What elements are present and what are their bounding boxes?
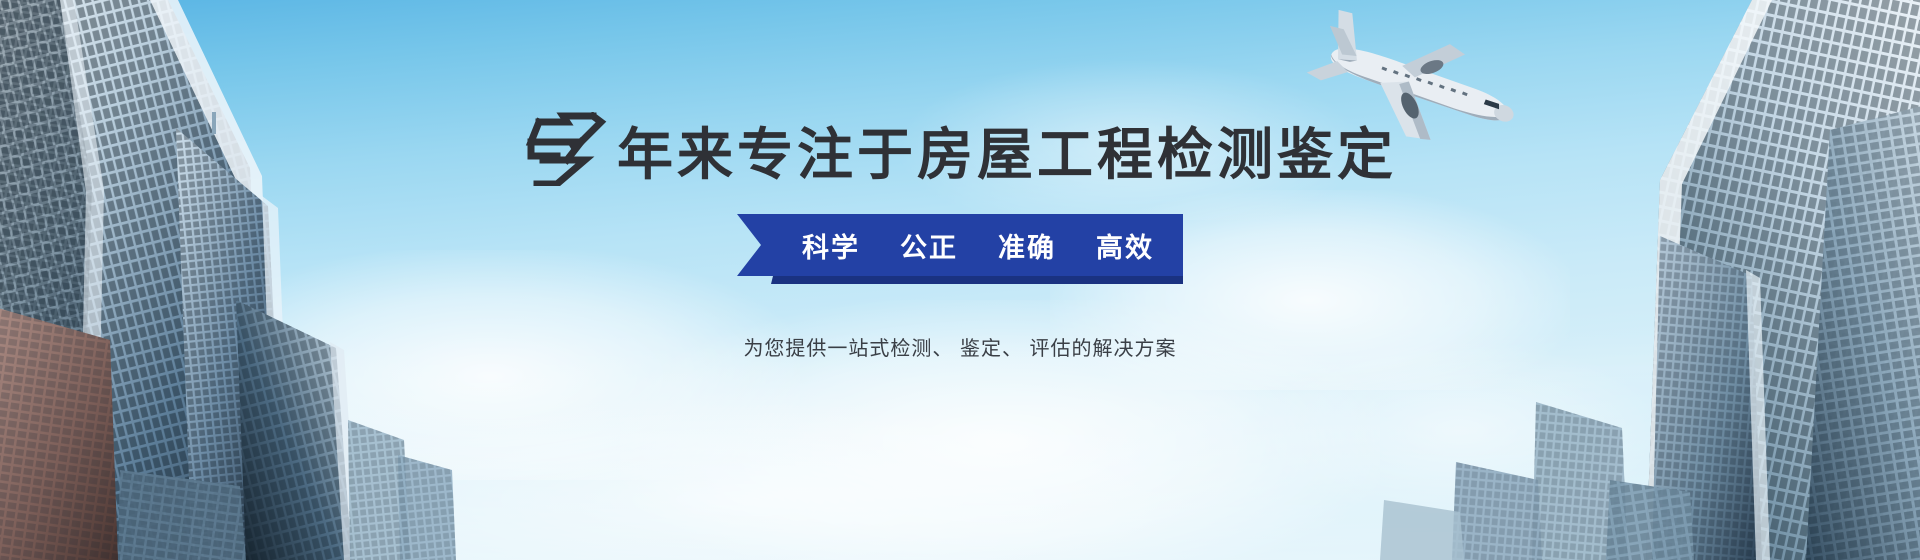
subtitle-text: 为您提供一站式检测、 鉴定、 评估的解决方案: [743, 332, 1176, 361]
stylized-duo-character-logo: [523, 112, 615, 186]
headline-row: 年来专注于房屋工程检测鉴定: [523, 112, 1397, 186]
ribbon-item-kexue: 科学: [802, 226, 860, 265]
ribbon-item-list: 科学 公正 准确 高效: [737, 214, 1183, 276]
ribbon-item-gongzheng: 公正: [900, 226, 958, 265]
hero-banner: 年来专注于房屋工程检测鉴定 科学 公正 准确 高效 为您提供一站式检测、 鉴定、…: [0, 0, 1920, 560]
slogan-ribbon: 科学 公正 准确 高效: [737, 214, 1183, 284]
banner-content: 年来专注于房屋工程检测鉴定 科学 公正 准确 高效 为您提供一站式检测、 鉴定、…: [0, 0, 1920, 560]
ribbon-item-gaoxiao: 高效: [1096, 226, 1154, 265]
headline-text: 年来专注于房屋工程检测鉴定: [617, 124, 1397, 186]
ribbon-item-zhunque: 准确: [998, 226, 1056, 265]
